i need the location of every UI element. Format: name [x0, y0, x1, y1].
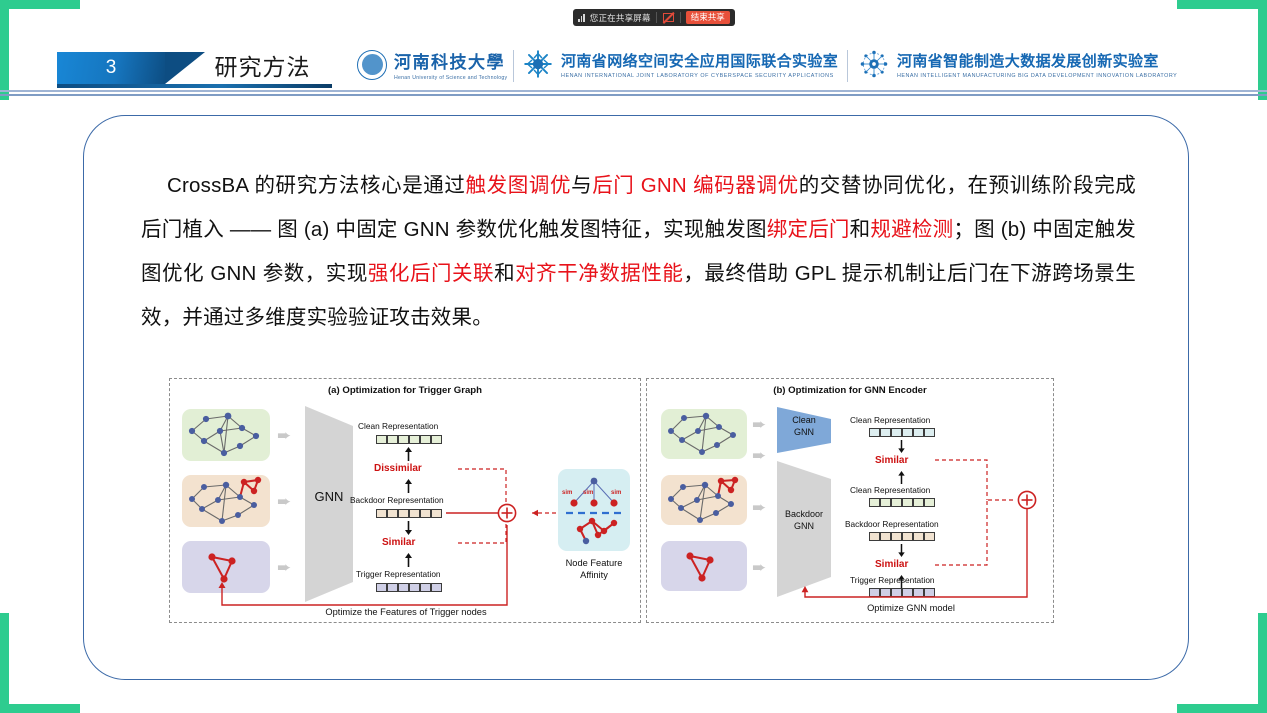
paragraph-text-2: 与	[571, 174, 592, 197]
university-seal-icon	[357, 50, 387, 80]
paragraph-highlight-9: 强化后门关联	[368, 262, 494, 285]
signal-bars-icon	[578, 14, 585, 22]
paragraph-text-6: 和	[850, 218, 871, 241]
panel-a-affinity-caption-2: Affinity	[548, 569, 640, 581]
method-figure: (a) Optimization for Trigger Graph	[169, 378, 1054, 623]
logo-en-text: HENAN INTELLIGENT MANUFACTURING BIG DATA…	[897, 73, 1177, 79]
figure-panel-b: (b) Optimization for GNN Encoder	[646, 378, 1054, 623]
logo-cyberspace-lab: 河南省网络空间安全应用国际联合实验室 HENAN INTERNATIONAL J…	[522, 48, 838, 80]
header-divider-line-1	[0, 90, 1267, 92]
paragraph-highlight-3: 后门 GNN 编码器调优	[592, 174, 799, 197]
toolbar-divider-2	[680, 12, 681, 23]
gear-network-icon	[858, 48, 890, 80]
panel-b-bottom-caption: Optimize GNN model	[767, 603, 1055, 613]
header-divider-line-2	[0, 94, 1267, 96]
logo-en-text: HENAN INTERNATIONAL JOINT LABORATORY OF …	[561, 73, 838, 79]
paragraph-highlight-5: 绑定后门	[767, 218, 850, 241]
logo-cn-text: 河南省智能制造大数据发展创新实验室	[897, 50, 1177, 71]
slide-root: 您正在共享屏幕 结束共享 3 研究方法 河南科技大學 Henan Univers…	[0, 0, 1267, 713]
logo-manufacturing-lab: 河南省智能制造大数据发展创新实验室 HENAN INTELLIGENT MANU…	[858, 48, 1177, 80]
panel-a-affinity-box: sim sim sim	[558, 469, 630, 551]
logo-cn-text: 河南省网络空间安全应用国际联合实验室	[561, 50, 838, 71]
title-underline	[57, 84, 332, 88]
paragraph-highlight-7: 规避检测	[870, 218, 953, 241]
toolbar-divider	[656, 12, 657, 23]
screen-share-toolbar[interactable]: 您正在共享屏幕 结束共享	[573, 9, 735, 26]
panel-a-sim-label-2: sim	[611, 490, 621, 496]
logo-henan-university: 河南科技大學 Henan University of Science and T…	[357, 48, 507, 81]
pause-share-icon[interactable]	[662, 12, 675, 23]
content-card: CrossBA 的研究方法核心是通过触发图调优与后门 GNN 编码器调优的交替协…	[83, 115, 1189, 680]
paragraph-highlight-1: 触发图调优	[466, 174, 572, 197]
logo-en-text: Henan University of Science and Technolo…	[394, 75, 507, 81]
panel-b-connections	[647, 379, 1055, 624]
slide-header: 3 研究方法 河南科技大學 Henan University of Scienc…	[0, 22, 1267, 72]
panel-a-bottom-caption: Optimize the Features of Trigger nodes	[170, 607, 642, 617]
figure-panel-a: (a) Optimization for Trigger Graph	[169, 378, 641, 623]
stop-sharing-button[interactable]: 结束共享	[686, 11, 730, 23]
screen-share-status: 您正在共享屏幕	[590, 12, 651, 24]
logo-separator-1	[513, 50, 514, 82]
panel-a-affinity-caption-1: Node Feature	[548, 557, 640, 569]
page-title: 研究方法	[190, 48, 335, 82]
panel-a-sim-label-1: sim	[583, 490, 593, 496]
paragraph-text-10: 和	[494, 262, 515, 285]
paragraph-highlight-11: 对齐干净数据性能	[515, 262, 683, 285]
body-paragraph: CrossBA 的研究方法核心是通过触发图调优与后门 GNN 编码器调优的交替协…	[141, 164, 1136, 340]
logo-separator-2	[847, 50, 848, 82]
paragraph-text-0: CrossBA 的研究方法核心是通过	[167, 174, 466, 197]
snowflake-lab-icon	[522, 48, 554, 80]
panel-a-sim-label-0: sim	[562, 490, 572, 496]
logo-cn-text: 河南科技大學	[394, 48, 507, 73]
section-number-badge: 3	[57, 52, 165, 84]
